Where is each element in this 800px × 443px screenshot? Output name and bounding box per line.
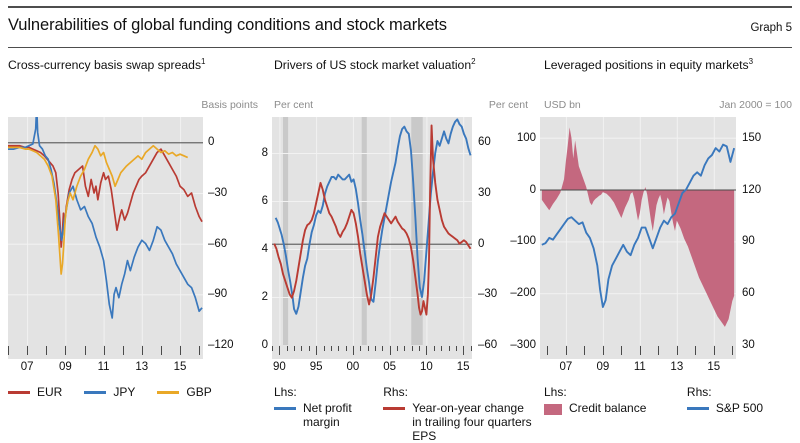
panel-3-y-tick-label-left: –200	[498, 287, 536, 299]
panel-2-y-tick-label-right: 30	[478, 187, 491, 199]
panel-2-x-tick	[324, 346, 325, 351]
panel-3-x-tick	[547, 346, 548, 355]
panel-2-x-tick	[456, 346, 457, 351]
header-bottom-rule	[8, 47, 792, 48]
panel-3-x-tick	[603, 346, 604, 355]
panel-3-x-tick	[621, 346, 622, 355]
panel-3-title: Leveraged positions in equity markets3	[544, 58, 776, 72]
panel-3-y-tick-label-left: 0	[498, 184, 536, 196]
panel-1-x-tick	[123, 346, 124, 355]
panel-3-x-tick-label: 15	[707, 361, 720, 373]
panel-1-x-axis	[8, 345, 203, 359]
panel-2-x-tick-label: 95	[310, 361, 323, 373]
panel-3-y-tick-label-right: 60	[742, 287, 755, 299]
legend-label-eur: EUR	[37, 385, 62, 399]
panel-1-chart-svg	[8, 117, 203, 345]
legend-item-eur[interactable]: EUR	[8, 385, 62, 399]
panel-2-x-tick	[353, 346, 354, 355]
panel-3-plot-area	[540, 117, 736, 345]
panel-2-y-tick-label-right: 0	[478, 238, 484, 250]
legend-axis-label-rhs: Rhs:	[687, 385, 796, 399]
panel-3-x-tick	[714, 346, 715, 355]
panel-3-x-tick	[658, 346, 659, 355]
legend-group-rhs: Rhs:S&P 500	[687, 385, 796, 415]
panel-1-x-tick-label: 15	[174, 361, 187, 373]
panel-1-x-tick-label: 09	[59, 361, 72, 373]
panel-2-x-tick	[441, 346, 442, 351]
panel-1-x-tick	[161, 346, 162, 355]
panel-3-x-tick-label: 11	[634, 361, 646, 373]
legend-group-rhs: Rhs:Year-on-year change in trailing four…	[383, 385, 532, 443]
page-title: Vulnerabilities of global funding condit…	[8, 16, 447, 35]
panel-2-title: Drivers of US stock market valuation2	[274, 58, 524, 72]
panel-3-x-tick	[695, 346, 696, 355]
legend-label-sp-500: S&P 500	[716, 401, 763, 415]
panel-cross-currency-basis-swap-spreads: Cross-currency basis swap spreads1 Basis…	[0, 55, 266, 434]
panel-2-x-tick	[309, 346, 310, 351]
panel-2-x-tick-label: 00	[346, 361, 359, 373]
panel-3-x-tick	[566, 346, 567, 355]
legend-swatch-sp-500	[687, 407, 709, 410]
panel-2-x-tick-label: 05	[383, 361, 396, 373]
panel-3-legend: Lhs:Credit balanceRhs:S&P 500	[544, 385, 796, 415]
panel-1-x-tick	[46, 346, 47, 355]
panel-2-x-tick	[287, 346, 288, 351]
panel-3-x-tick-label: 07	[559, 361, 572, 373]
panel-1-title-footnote: 1	[201, 57, 205, 66]
panel-2-x-tick	[397, 346, 398, 351]
panel-1-x-tick	[104, 346, 105, 355]
panel-3-y-tick-label-left: –100	[498, 235, 536, 247]
panel-3-unit-left: USD bn	[544, 99, 581, 111]
panel-2-x-tick-label: 15	[457, 361, 470, 373]
panel-3-x-tick	[677, 346, 678, 355]
panel-2-y-tick-label-left: 4	[254, 243, 268, 255]
panel-3-title-footnote: 3	[749, 57, 753, 66]
panel-3-x-tick	[584, 346, 585, 355]
panel-2-unit-right: Per cent	[489, 99, 528, 111]
panel-2-legend-items: Lhs:Net profit marginRhs:Year-on-year ch…	[274, 385, 532, 443]
panel-1-unit-right: Basis points	[201, 99, 258, 111]
legend-item-yoy-change-eps[interactable]: Year-on-year change in trailing four qua…	[383, 401, 532, 443]
panel-2-x-tick	[360, 346, 361, 351]
panel-3-unit-right: Jan 2000 = 100	[719, 99, 792, 111]
panel-1-x-tick	[142, 346, 143, 355]
legend-label-net-profit-margin: Net profit margin	[303, 401, 365, 429]
legend-label-gbp: GBP	[186, 385, 211, 399]
panel-1-y-tick-label: –30	[208, 187, 227, 199]
legend-item-net-profit-margin[interactable]: Net profit margin	[274, 401, 365, 429]
legend-group-lhs: Lhs:Net profit margin	[274, 385, 365, 429]
legend-axis-label-lhs: Lhs:	[274, 385, 365, 399]
panel-1-legend: EURJPYGBP	[8, 385, 262, 399]
panel-1-y-tick-label: –120	[208, 339, 234, 351]
legend-swatch-jpy	[84, 391, 106, 394]
panel-2-title-text: Drivers of US stock market valuation	[274, 58, 471, 72]
legend-axis-label-rhs: Rhs:	[383, 385, 532, 399]
graph-number: Graph 5	[750, 22, 792, 34]
panel-3-x-tick-label: 09	[596, 361, 609, 373]
panel-1-x-tick-label: 11	[98, 361, 110, 373]
panel-2-y-tick-label-left: 8	[254, 147, 268, 159]
legend-swatch-credit-balance	[544, 404, 562, 415]
legend-item-gbp[interactable]: GBP	[157, 385, 211, 399]
panel-2-x-axis	[272, 345, 472, 359]
panel-2-x-tick	[331, 346, 332, 351]
panel-3-y-tick-label-right: 90	[742, 235, 755, 247]
panel-3-x-axis	[540, 345, 736, 359]
legend-swatch-eur	[8, 391, 30, 394]
panel-2-y-tick-label-right: 60	[478, 136, 491, 148]
panel-3-y-tick-label-left: –300	[498, 339, 536, 351]
header-top-rule	[8, 6, 792, 8]
panel-2-x-tick	[382, 346, 383, 351]
legend-label-jpy: JPY	[113, 385, 135, 399]
panel-2-x-tick	[272, 346, 273, 351]
panel-3-x-tick	[732, 346, 733, 355]
legend-swatch-gbp	[157, 391, 179, 394]
panel-2-x-tick	[449, 346, 450, 351]
panel-1-x-tick	[85, 346, 86, 355]
panel-2-y-tick-label-right: –60	[478, 339, 497, 351]
panel-1-title: Cross-currency basis swap spreads1	[8, 58, 258, 72]
panel-1-x-tick	[180, 346, 181, 355]
panel-leveraged-positions-in-equity-markets: Leveraged positions in equity markets3 U…	[536, 55, 800, 434]
legend-axis-label-lhs: Lhs:	[544, 385, 673, 399]
panel-2-x-tick	[301, 346, 302, 351]
panel-1-x-tick-label: 07	[21, 361, 34, 373]
legend-item-credit-balance[interactable]: Credit balance	[544, 401, 673, 415]
panel-2-x-tick-label: 10	[420, 361, 433, 373]
legend-label-yoy-change-eps: Year-on-year change in trailing four qua…	[412, 401, 532, 443]
panel-3-legend-items: Lhs:Credit balanceRhs:S&P 500	[544, 385, 796, 415]
panel-1-y-tick-label: –60	[208, 238, 227, 250]
legend-swatch-yoy-change-eps	[383, 407, 405, 410]
panel-drivers-of-us-stock-market-valuation: Drivers of US stock market valuation2 Pe…	[266, 55, 536, 434]
panel-3-chart-svg	[540, 117, 736, 345]
panel-1-x-tick	[65, 346, 66, 355]
panel-2-x-tick	[412, 346, 413, 351]
panel-2-x-tick	[463, 346, 464, 355]
panel-2-x-tick	[404, 346, 405, 351]
legend-item-jpy[interactable]: JPY	[84, 385, 135, 399]
panel-2-plot-area	[272, 117, 472, 345]
panel-2-x-tick	[426, 346, 427, 355]
panel-2-legend: Lhs:Net profit marginRhs:Year-on-year ch…	[274, 385, 532, 443]
panel-2-x-tick	[279, 346, 280, 355]
panel-3-y-tick-label-right: 150	[742, 132, 761, 144]
panel-2-x-tick	[346, 346, 347, 351]
panel-1-x-tick	[8, 346, 9, 355]
panel-3-y-tick-label-right: 30	[742, 339, 755, 351]
panel-2-chart-svg	[272, 117, 472, 345]
panel-2-y-tick-label-left: 2	[254, 291, 268, 303]
panel-3-x-tick-label: 13	[670, 361, 683, 373]
panel-3-y-tick-label-left: 100	[498, 132, 536, 144]
panel-2-x-tick	[294, 346, 295, 351]
panel-2-x-tick	[368, 346, 369, 351]
panel-1-x-tick	[27, 346, 28, 355]
panel-2-y-tick-label-left: 6	[254, 195, 268, 207]
legend-item-sp-500[interactable]: S&P 500	[687, 401, 796, 415]
panel-3-x-tick	[640, 346, 641, 355]
panel-1-x-tick	[199, 346, 200, 355]
panel-2-x-tick-label: 90	[273, 361, 286, 373]
panel-1-plot-area	[8, 117, 203, 345]
legend-swatch-net-profit-margin	[274, 407, 296, 410]
panel-3-y-tick-label-right: 120	[742, 184, 761, 196]
panel-2-x-tick	[434, 346, 435, 351]
panel-1-y-tick-label: –90	[208, 288, 227, 300]
panel-2-y-tick-label-left: 0	[254, 339, 268, 351]
legend-group-lhs: Lhs:Credit balance	[544, 385, 673, 415]
panel-2-x-tick	[419, 346, 420, 351]
panel-3-title-text: Leveraged positions in equity markets	[544, 58, 749, 72]
panel-2-x-tick	[338, 346, 339, 351]
panel-1-x-tick-label: 13	[135, 361, 148, 373]
panel-2-unit-left: Per cent	[274, 99, 313, 111]
panel-2-title-footnote: 2	[471, 57, 475, 66]
panel-2-x-tick	[316, 346, 317, 355]
panel-1-y-tick-label: 0	[208, 136, 214, 148]
panel-2-y-tick-label-right: –30	[478, 288, 497, 300]
panel-2-x-tick	[390, 346, 391, 355]
panel-2-x-tick	[471, 346, 472, 351]
panel-1-title-text: Cross-currency basis swap spreads	[8, 58, 201, 72]
legend-label-credit-balance: Credit balance	[569, 401, 646, 415]
panel-1-legend-items: EURJPYGBP	[8, 385, 262, 399]
panel-2-x-tick	[375, 346, 376, 351]
